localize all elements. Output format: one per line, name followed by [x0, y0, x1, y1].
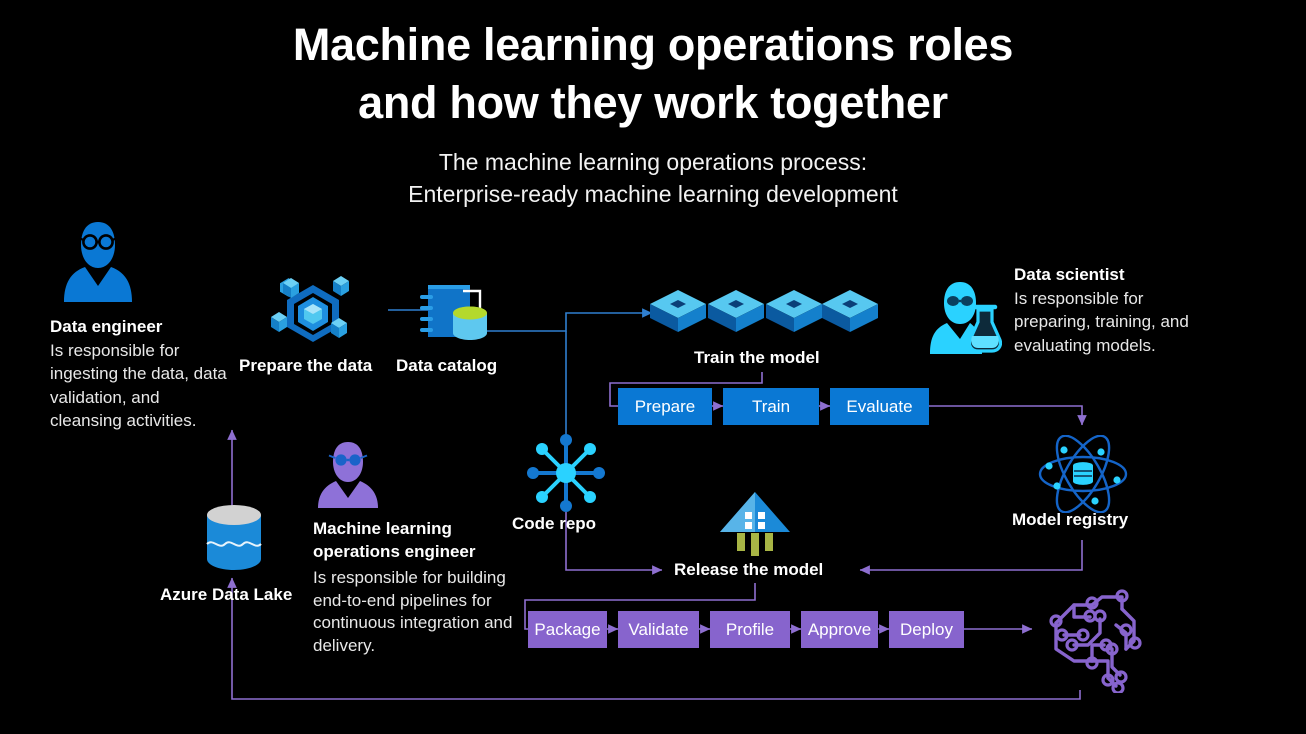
rocket-launch-icon: [718, 490, 792, 556]
circuit-brain-icon: [1030, 583, 1154, 693]
pipeline-step-package-label: Package: [534, 620, 600, 640]
role-mlops-engineer-description: Is responsible for building end-to-end p…: [313, 567, 518, 657]
role-data-engineer-name: Data engineer: [50, 315, 230, 339]
atom-registry-icon: [1038, 435, 1128, 513]
page-title-line-2: and how they work together: [0, 74, 1306, 132]
person-glasses-icon: [316, 440, 380, 510]
role-data-engineer-description: Is responsible for ingesting the data, d…: [50, 339, 230, 433]
node-label-model-registry: Model registry: [1012, 510, 1128, 530]
pipeline-step-deploy[interactable]: Deploy: [889, 611, 964, 648]
pipeline-step-validate-label: Validate: [628, 620, 688, 640]
link-catalog-to-train: [487, 313, 652, 331]
role-data-engineer: Data engineer Is responsible for ingesti…: [50, 315, 230, 433]
pipeline-step-profile[interactable]: Profile: [710, 611, 790, 648]
node-label-data-catalog: Data catalog: [396, 356, 497, 376]
link-evaluate-to-registry: [929, 406, 1082, 425]
role-mlops-engineer: Machine learning operations engineer Is …: [313, 518, 518, 657]
pipeline-step-deploy-label: Deploy: [900, 620, 953, 640]
page-subtitle-line-1: The machine learning operations process:: [0, 146, 1306, 178]
catalog-database-icon: [418, 283, 488, 345]
role-data-scientist-name: Data scientist: [1014, 263, 1189, 287]
page-title: Machine learning operations roles and ho…: [0, 16, 1306, 132]
pipeline-step-validate[interactable]: Validate: [618, 611, 699, 648]
page-subtitle: The machine learning operations process:…: [0, 146, 1306, 210]
pipeline-step-train[interactable]: Train: [723, 388, 819, 425]
role-data-scientist-description: Is responsible for preparing, training, …: [1014, 287, 1189, 358]
page-subtitle-line-2: Enterprise-ready machine learning develo…: [0, 178, 1306, 210]
pipeline-step-package[interactable]: Package: [528, 611, 607, 648]
pipeline-step-train-label: Train: [752, 397, 790, 417]
node-label-azure-data-lake: Azure Data Lake: [160, 585, 292, 605]
role-data-scientist: Data scientist Is responsible for prepar…: [1014, 263, 1189, 357]
page-title-line-1: Machine learning operations roles: [0, 16, 1306, 74]
data-lake-cylinder-icon: [203, 503, 265, 573]
node-label-release-the-model: Release the model: [674, 560, 823, 580]
node-label-code-repo: Code repo: [512, 514, 596, 534]
code-repo-hub-icon: [522, 432, 610, 514]
data-prep-cubes-icon: [267, 275, 359, 347]
pipeline-step-prepare-label: Prepare: [635, 397, 695, 417]
role-mlops-engineer-name-line-2: operations engineer: [313, 541, 518, 564]
pipeline-step-approve[interactable]: Approve: [801, 611, 878, 648]
node-label-train-the-model: Train the model: [694, 348, 820, 368]
link-registry-to-release: [860, 540, 1082, 570]
node-label-prepare-the-data: Prepare the data: [239, 356, 372, 376]
pipeline-step-profile-label: Profile: [726, 620, 774, 640]
role-mlops-engineer-name-line-1: Machine learning: [313, 518, 518, 541]
pipeline-step-prepare[interactable]: Prepare: [618, 388, 712, 425]
pipeline-step-evaluate-label: Evaluate: [846, 397, 912, 417]
person-glasses-icon: [63, 220, 133, 305]
pipeline-step-evaluate[interactable]: Evaluate: [830, 388, 929, 425]
person-scientist-flask-icon: [930, 280, 1002, 356]
model-cubes-icon: [648, 288, 880, 344]
pipeline-step-approve-label: Approve: [808, 620, 871, 640]
